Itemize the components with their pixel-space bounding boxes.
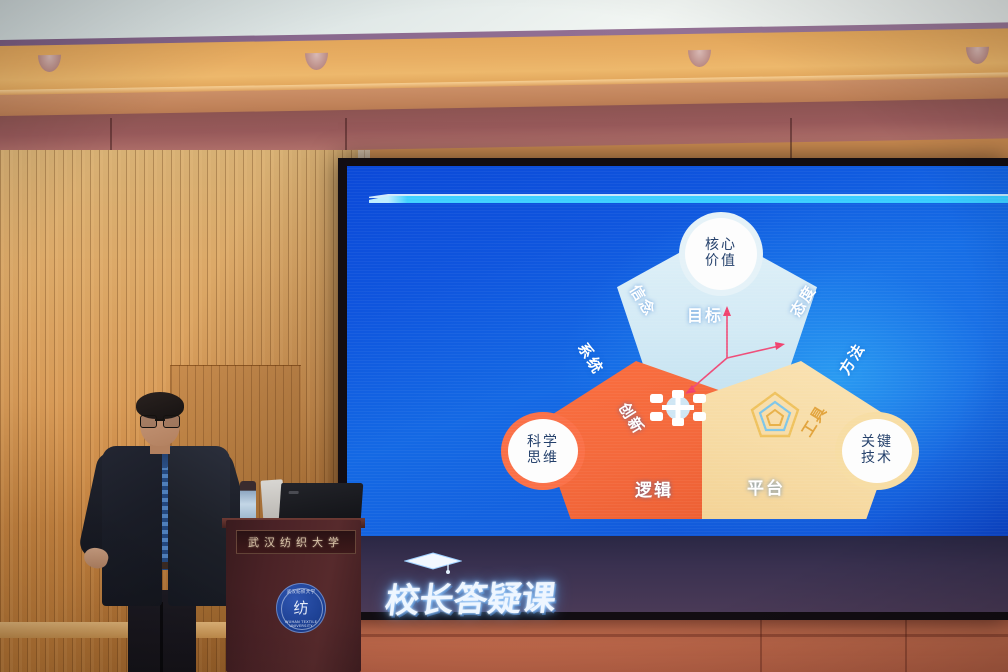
bubble-core-value-line2: 价值 <box>705 254 737 270</box>
presenter-trouser-seam <box>160 602 163 672</box>
bubble-scientific-thinking-line2: 思维 <box>527 451 559 467</box>
stage-front-line <box>335 634 1008 637</box>
banner-title: 校长答疑课 <box>383 571 559 623</box>
three-arrow-axes-icon <box>652 298 802 398</box>
lecture-hall-photo: 目标 信念 态度 系统 方法 创新 逻辑 平台 工具 核心 价值 <box>0 0 1008 672</box>
label-system: 系统 <box>573 339 609 379</box>
water-bottle <box>240 481 256 523</box>
label-logic: 逻辑 <box>635 476 673 501</box>
bubble-core-value-line1: 核心 <box>705 238 737 254</box>
led-screen: 目标 信念 态度 系统 方法 创新 逻辑 平台 工具 核心 价值 <box>347 166 1008 612</box>
podium-nameplate-text: 武汉纺织大学 <box>248 534 344 550</box>
emblem-english-name: WUHAN TEXTILE UNIVERSITY <box>277 620 325 628</box>
bubble-key-technology: 关键 技术 <box>835 412 919 490</box>
bubble-scientific-thinking: 科学 思维 <box>501 412 585 490</box>
presenter-jacket-left <box>102 446 162 606</box>
laptop <box>279 483 364 521</box>
emblem-chinese-name: 武汉纺织大学 <box>277 589 325 595</box>
program-banner: 校长答疑课 <box>370 556 610 614</box>
three-part-pentagon-diagram: 目标 信念 态度 系统 方法 创新 逻辑 平台 工具 核心 价值 <box>502 218 922 528</box>
bubble-core-value: 核心 价值 <box>679 212 763 296</box>
university-emblem: 武汉纺织大学 纺 WUHAN TEXTILE UNIVERSITY <box>276 583 326 633</box>
stage-front-seam <box>760 612 762 672</box>
label-platform: 平台 <box>747 474 785 499</box>
bubble-scientific-thinking-line1: 科学 <box>527 435 559 451</box>
bubble-key-technology-line2: 技术 <box>861 451 893 467</box>
label-method: 方法 <box>834 339 870 379</box>
bubble-key-technology-line1: 关键 <box>861 435 893 451</box>
network-globe-icon <box>650 390 706 426</box>
ceiling-seam <box>790 118 792 158</box>
presenter-jacket-right <box>168 446 230 606</box>
emblem-mark: 纺 <box>277 597 325 618</box>
stage-front-seam <box>905 612 907 672</box>
podium-nameplate: 武汉纺织大学 <box>236 530 356 554</box>
presentation-slide: 目标 信念 态度 系统 方法 创新 逻辑 平台 工具 核心 价值 <box>347 166 1008 544</box>
eyeglasses-icon <box>140 415 180 426</box>
label-goal: 目标 <box>687 302 723 326</box>
slide-accent-rule <box>369 196 1008 203</box>
